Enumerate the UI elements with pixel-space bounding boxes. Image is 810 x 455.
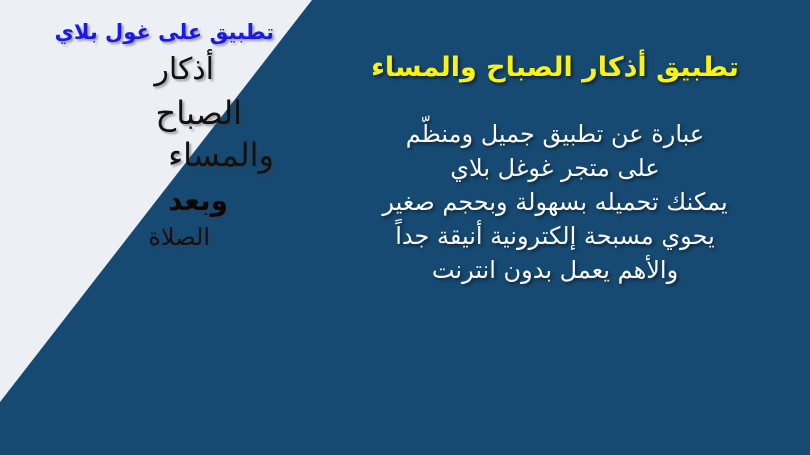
app-headline: تطبيق أذكار الصباح والمساء bbox=[300, 52, 810, 83]
left-title-stack: تطبيق على غول بلاي أذكار الصباح والمساء … bbox=[0, 0, 300, 249]
left-title-line-4: وبعد bbox=[0, 171, 300, 215]
description-line-4: يحوي مسبحة إلكترونية أنيقة جداً bbox=[300, 219, 810, 253]
description-line-3: يمكنك تحميله بسهولة وبحجم صغير bbox=[300, 185, 810, 219]
left-title-line-2: الصباح bbox=[0, 85, 300, 129]
google-play-promo-label: تطبيق على غول بلاي bbox=[0, 0, 300, 43]
description-line-5: والأهم يعمل بدون انترنت bbox=[300, 253, 810, 287]
left-title-line-5: الصلاة bbox=[0, 215, 300, 249]
left-title-line-3: والمساء bbox=[0, 129, 300, 171]
left-title-line-1: أذكار bbox=[0, 43, 300, 85]
description-line-2: على متجر غوغل بلاي bbox=[300, 151, 810, 185]
app-description: عبارة عن تطبيق جميل ومنظّم على متجر غوغل… bbox=[300, 117, 810, 287]
right-content-area: تطبيق أذكار الصباح والمساء عبارة عن تطبي… bbox=[300, 0, 810, 455]
description-line-1: عبارة عن تطبيق جميل ومنظّم bbox=[300, 117, 810, 151]
promo-banner: تطبيق على غول بلاي أذكار الصباح والمساء … bbox=[0, 0, 810, 455]
